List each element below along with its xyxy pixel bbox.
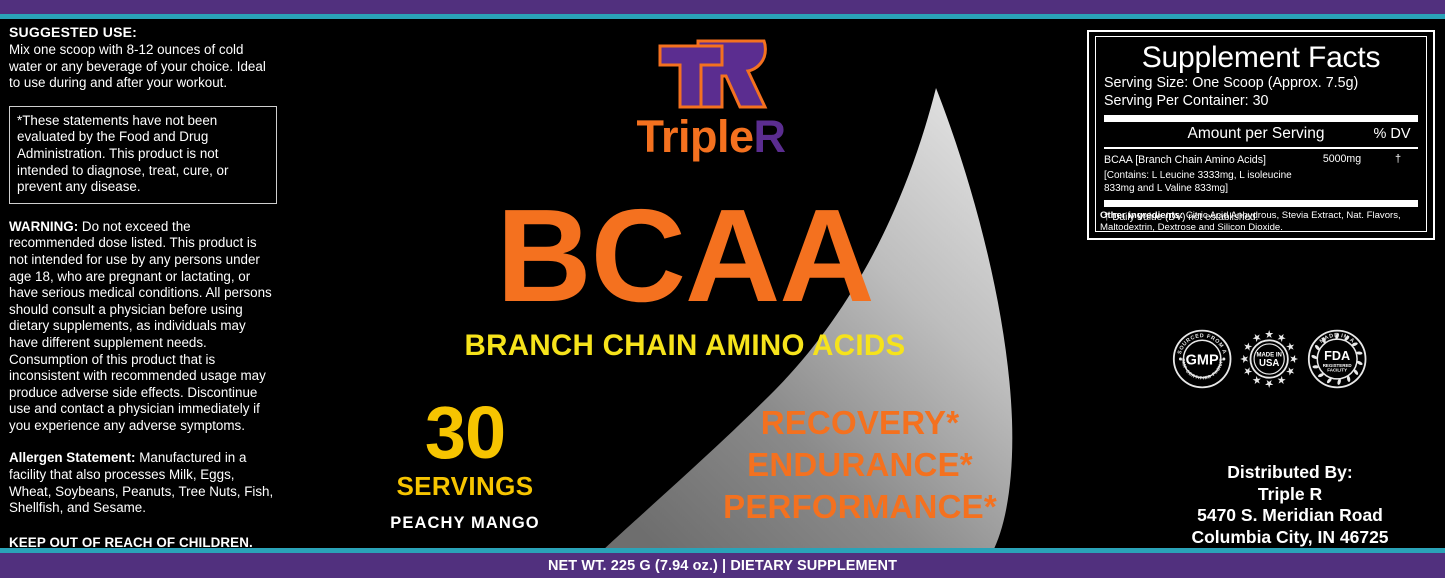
svg-text:FDA: FDA: [1324, 349, 1350, 363]
brand-name-part1: Triple: [636, 111, 753, 162]
made-in-usa-badge-icon: MADE IN USA: [1239, 328, 1299, 390]
net-weight-text: NET WT. 225 G (7.94 oz.) | DIETARY SUPPL…: [0, 553, 1445, 578]
servings-block: 30 SERVINGS PEACHY MANGO: [375, 396, 555, 532]
brand-wordmark: TripleR: [596, 114, 826, 160]
servings-count: 30: [375, 396, 555, 470]
ingredient-detail: [Contains: L Leucine 3333mg, L isoleucin…: [1104, 169, 1306, 195]
benefit-item: RECOVERY*: [700, 402, 1020, 444]
ingredient-amount: 5000mg: [1306, 153, 1378, 165]
brand-name-part2: R: [754, 111, 786, 162]
ingredient-dv: †: [1378, 153, 1418, 165]
distributor-city-state-zip: Columbia City, IN 46725: [1140, 527, 1440, 549]
left-info-column: SUGGESTED USE: Mix one scoop with 8-12 o…: [9, 24, 277, 578]
top-purple-band: [0, 0, 1445, 14]
servings-per-container: Serving Per Container: 30: [1104, 93, 1418, 111]
distributor-street: 5470 S. Meridian Road: [1140, 505, 1440, 527]
svg-text:USA: USA: [1259, 358, 1279, 369]
gmp-badge-icon: SOURCED FROM A CGMP CERTIFIED FACILITY G…: [1172, 328, 1232, 390]
supplement-label: SUGGESTED USE: Mix one scoop with 8-12 o…: [0, 0, 1445, 578]
distributor-block: Distributed By: Triple R 5470 S. Meridia…: [1140, 462, 1440, 548]
warning-paragraph: WARNING: Do not exceed the recommended d…: [9, 219, 277, 435]
certification-badges: SOURCED FROM A CGMP CERTIFIED FACILITY G…: [1172, 326, 1367, 392]
suggested-use-body: Mix one scoop with 8-12 ounces of cold w…: [9, 42, 277, 92]
suggested-use-heading: SUGGESTED USE:: [9, 24, 277, 40]
svg-text:GMP: GMP: [1186, 352, 1219, 368]
svg-text:FACILITY: FACILITY: [1327, 368, 1347, 373]
daily-value-header: % DV: [1366, 126, 1418, 142]
supplement-facts-panel: Supplement Facts Serving Size: One Scoop…: [1087, 30, 1435, 240]
brand-logo: TripleR: [596, 38, 826, 160]
distributor-company: Triple R: [1140, 484, 1440, 506]
facts-row: BCAA [Branch Chain Amino Acids] [Contain…: [1104, 149, 1418, 195]
benefit-item: ENDURANCE*: [700, 444, 1020, 486]
allergen-label: Allergen Statement:: [9, 450, 136, 465]
fda-disclaimer-text: *These statements have not been evaluate…: [17, 113, 269, 196]
distributor-heading: Distributed By:: [1140, 462, 1440, 484]
ingredient-name: BCAA [Branch Chain Amino Acids]: [1104, 154, 1266, 166]
benefits-list: RECOVERY* ENDURANCE* PERFORMANCE*: [700, 402, 1020, 528]
other-ingredients: Other ingredients: Citric Acid Anhydrous…: [1100, 210, 1430, 235]
amount-per-serving-header: Amount per Serving: [1104, 125, 1366, 143]
product-title: BCAA: [455, 190, 915, 322]
facts-divider-thick-bottom: [1104, 200, 1418, 207]
servings-word: SERVINGS: [375, 472, 555, 500]
other-ingredients-label: Other ingredients:: [1100, 210, 1183, 221]
allergen-paragraph: Allergen Statement: Manufactured in a fa…: [9, 450, 277, 516]
benefit-item: PERFORMANCE*: [700, 486, 1020, 528]
top-teal-band: [0, 14, 1445, 19]
warning-label: WARNING:: [9, 219, 78, 234]
warning-body: Do not exceed the recommended dose liste…: [9, 219, 272, 433]
fda-registered-badge-icon: MADE IN A FDA REGISTERED FACILITY: [1307, 328, 1367, 390]
facts-divider-thick: [1104, 115, 1418, 122]
supplement-facts-title: Supplement Facts: [1104, 41, 1418, 75]
product-subtitle: BRANCH CHAIN AMINO ACIDS: [400, 331, 970, 361]
tr-monogram-icon: [596, 38, 826, 110]
facts-column-headers: Amount per Serving % DV: [1104, 122, 1418, 147]
fda-disclaimer-box: *These statements have not been evaluate…: [9, 106, 277, 204]
flavor-name: PEACHY MANGO: [375, 514, 555, 532]
serving-size: Serving Size: One Scoop (Approx. 7.5g): [1104, 75, 1418, 93]
